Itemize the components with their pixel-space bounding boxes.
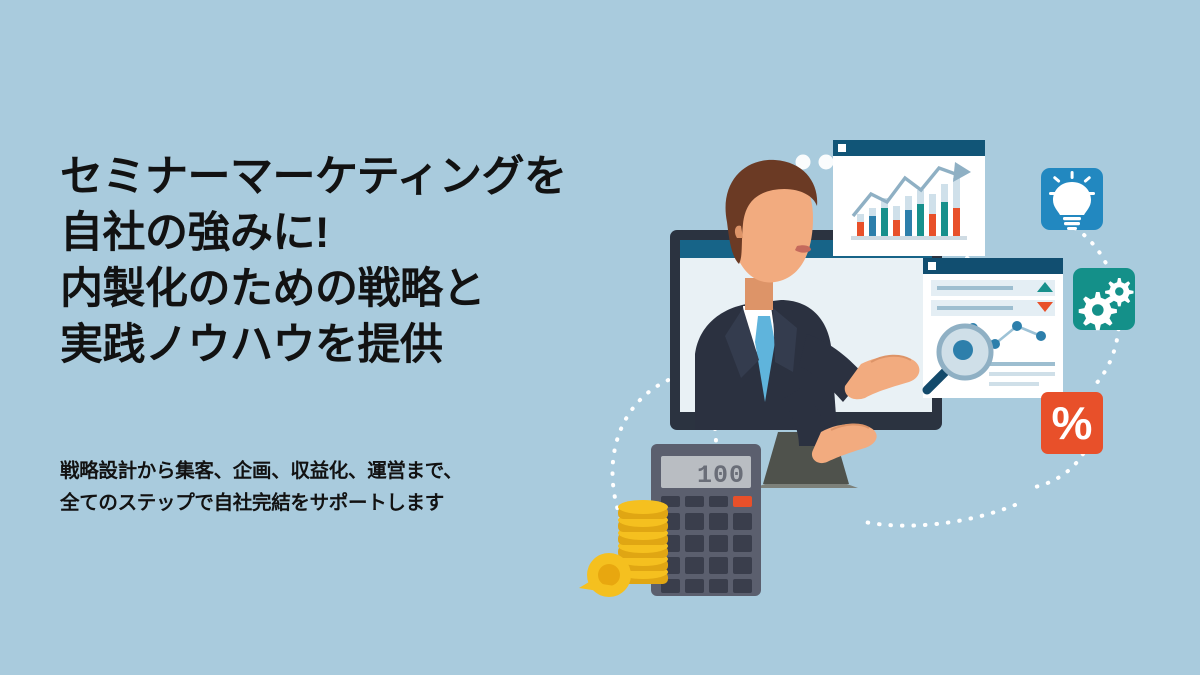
bar-chart-window: [833, 140, 985, 256]
hero-illustration: % 100: [575, 110, 1185, 610]
line-chart-titlebar: [923, 258, 1063, 274]
percent-badge: %: [1041, 392, 1103, 454]
subheadline-block: 戦略設計から集客、企画、収益化、運営まで、 全てのステップで自社完結をサポートし…: [60, 455, 620, 519]
idea-badge: [1041, 168, 1103, 230]
line-chart-titlebar-dot: [928, 262, 936, 270]
bar-chart-titlebar: [833, 140, 985, 156]
coin-leaning: [579, 553, 631, 597]
slide-canvas: セミナーマーケティングを 自社の強みに! 内製化のための戦略と 実践ノウハウを提…: [0, 0, 1200, 675]
percent-icon: %: [1052, 397, 1093, 449]
subheadline-line-1: 戦略設計から集客、企画、収益化、運営まで、: [60, 455, 620, 487]
calculator-display-value: 100: [697, 461, 745, 490]
dotted-path-bottom: [865, 505, 1015, 526]
monitor-stand-base: [754, 484, 858, 488]
bar-chart-axis: [851, 236, 967, 240]
loading-dot-2: [819, 155, 834, 170]
presenter-neck: [745, 278, 773, 310]
bar-chart-titlebar-dot: [838, 144, 846, 152]
gears-badge: [1073, 268, 1135, 330]
subheadline-line-2: 全てのステップで自社完結をサポートします: [60, 487, 620, 519]
coin-stack: [579, 500, 668, 597]
